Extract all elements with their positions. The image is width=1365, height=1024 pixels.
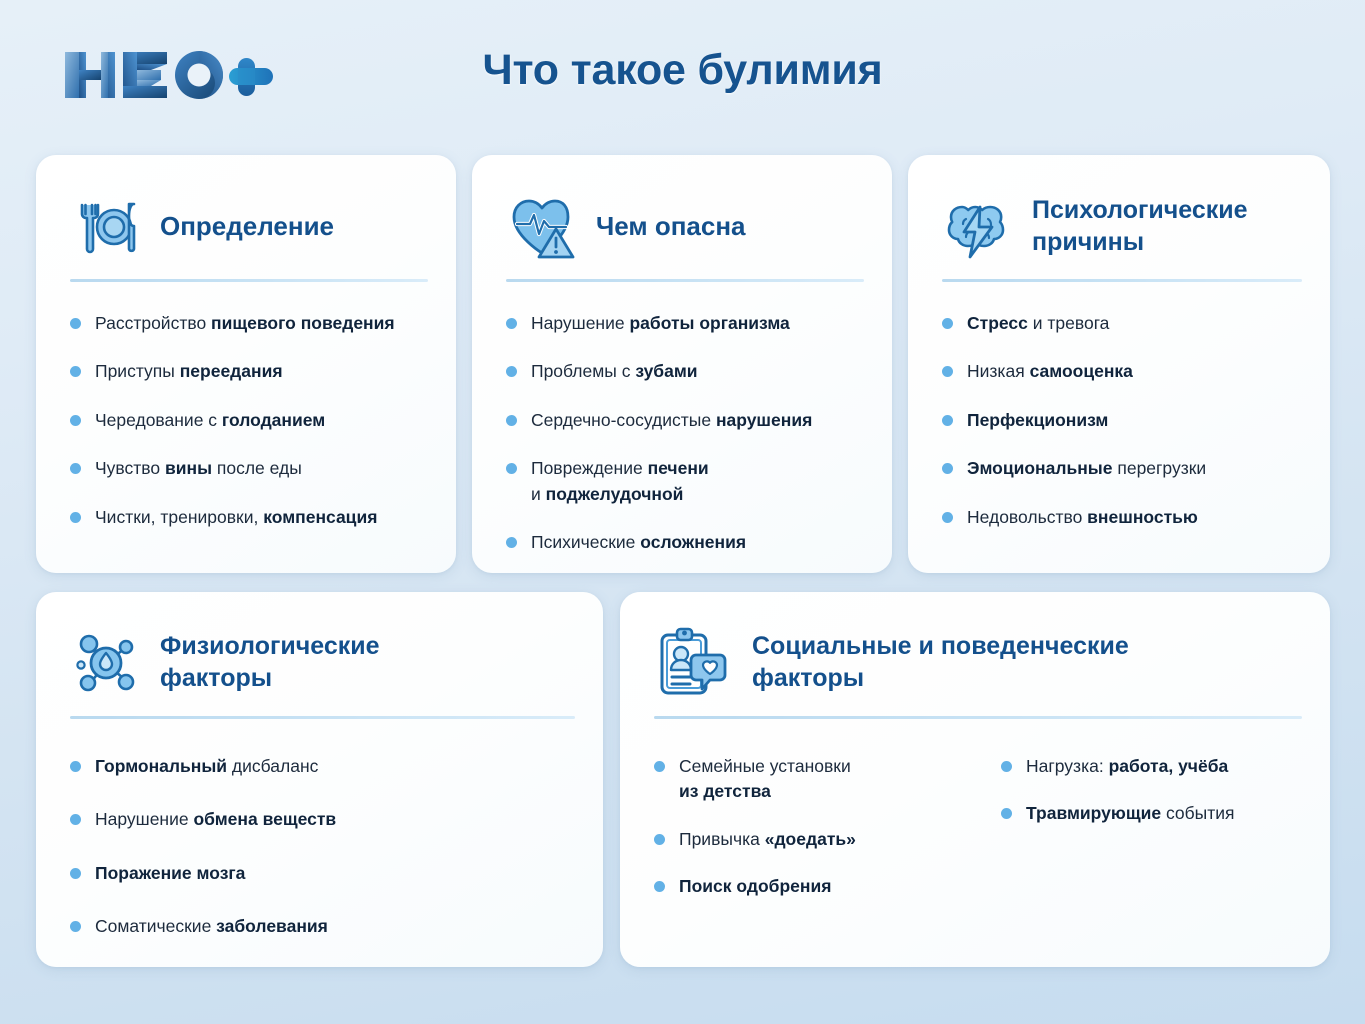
list-item: Стресс и тревога bbox=[942, 311, 1308, 336]
bullet-list: Нарушение работы организма Проблемы с зу… bbox=[506, 311, 870, 555]
list-item-text: Поражение мозга bbox=[95, 861, 245, 886]
bullet-dot bbox=[942, 463, 953, 474]
list-item-text: Недовольство внешностью bbox=[967, 505, 1198, 530]
bullet-list-right: Нагрузка: работа, учёба Травмирующие соб… bbox=[983, 754, 1306, 900]
card-definition: Определение Расстройство пищевого поведе… bbox=[36, 155, 456, 573]
list-item: Недовольство внешностью bbox=[942, 505, 1308, 530]
list-item-text: Привычка «доедать» bbox=[679, 827, 856, 852]
list-item-text: Нарушение обмена веществ bbox=[95, 807, 336, 832]
bullet-dot bbox=[1001, 761, 1012, 772]
list-item: Расстройство пищевого поведения bbox=[70, 311, 434, 336]
list-item: Перфекционизм bbox=[942, 408, 1308, 433]
bullet-list-left: Семейные установкииз детства Привычка «д… bbox=[654, 754, 959, 900]
bullet-dot bbox=[942, 318, 953, 329]
bullet-dot bbox=[506, 318, 517, 329]
list-item-text: Чувство вины после еды bbox=[95, 456, 302, 481]
card-dangers: Чем опасна Нарушение работы организма Пр… bbox=[472, 155, 892, 573]
list-item: Поиск одобрения bbox=[654, 874, 959, 899]
bullet-dot bbox=[942, 415, 953, 426]
brain-lightning-icon bbox=[942, 191, 1014, 263]
bullet-dot bbox=[70, 463, 81, 474]
list-item-text: Стресс и тревога bbox=[967, 311, 1109, 336]
list-item-text: Сердечно-сосудистые нарушения bbox=[531, 408, 812, 433]
card-divider bbox=[506, 279, 864, 282]
list-item-text: Семейные установкииз детства bbox=[679, 754, 851, 805]
card-social-behavioral-factors: Социальные и поведенческие факторы Семей… bbox=[620, 592, 1330, 967]
clipboard-person-heart-icon bbox=[654, 623, 734, 703]
list-item: Гормональный дисбаланс bbox=[70, 754, 581, 779]
page-header: Что такое булимия bbox=[0, 0, 1365, 140]
bullet-dot bbox=[654, 881, 665, 892]
list-item: Сердечно-сосудистые нарушения bbox=[506, 408, 870, 433]
card-header: Определение bbox=[36, 155, 456, 265]
bullet-dot bbox=[506, 366, 517, 377]
list-item-text: Соматические заболевания bbox=[95, 914, 328, 939]
list-item-text: Приступы переедания bbox=[95, 359, 283, 384]
bullet-dot bbox=[942, 366, 953, 377]
card-title: Определение bbox=[160, 210, 334, 243]
list-item-text: Чистки, тренировки, компенсация bbox=[95, 505, 377, 530]
list-item-text: Чередование с голоданием bbox=[95, 408, 325, 433]
card-psychological-causes: Психологические причины Стресс и тревога… bbox=[908, 155, 1330, 573]
bullet-dot bbox=[942, 512, 953, 523]
plate-fork-knife-icon bbox=[70, 191, 142, 263]
list-item-text: Проблемы с зубами bbox=[531, 359, 698, 384]
list-item-text: Эмоциональные перегрузки bbox=[967, 456, 1206, 481]
list-item: Повреждение печении поджелудочной bbox=[506, 456, 870, 507]
bullet-dot bbox=[70, 318, 81, 329]
card-title: Чем опасна bbox=[596, 210, 746, 243]
bullet-dot bbox=[70, 512, 81, 523]
bullet-dot bbox=[70, 761, 81, 772]
bullet-list: Стресс и тревога Низкая самооценка Перфе… bbox=[942, 311, 1308, 530]
card-divider bbox=[942, 279, 1302, 282]
list-item-text: Нагрузка: работа, учёба bbox=[1026, 754, 1228, 779]
page-title: Что такое булимия bbox=[0, 46, 1365, 95]
list-item-text: Низкая самооценка bbox=[967, 359, 1133, 384]
list-item-text: Расстройство пищевого поведения bbox=[95, 311, 395, 336]
list-item-text: Повреждение печении поджелудочной bbox=[531, 456, 709, 507]
list-item: Чувство вины после еды bbox=[70, 456, 434, 481]
bullet-dot bbox=[70, 921, 81, 932]
list-item: Поражение мозга bbox=[70, 861, 581, 886]
bullet-dot bbox=[506, 415, 517, 426]
bullet-dot bbox=[654, 761, 665, 772]
card-divider bbox=[70, 716, 575, 719]
molecule-hormone-icon bbox=[70, 627, 142, 699]
card-title: Психологические причины bbox=[1032, 195, 1282, 259]
list-item-text: Поиск одобрения bbox=[679, 874, 831, 899]
list-item: Семейные установкииз детства bbox=[654, 754, 959, 805]
card-title: Социальные и поведенческие факторы bbox=[752, 631, 1172, 695]
list-item: Психические осложнения bbox=[506, 530, 870, 555]
bullet-list: Расстройство пищевого поведения Приступы… bbox=[70, 311, 434, 530]
list-item: Эмоциональные перегрузки bbox=[942, 456, 1308, 481]
list-item-text: Нарушение работы организма bbox=[531, 311, 790, 336]
card-physiological-factors: Физиологические факторы Гормональный дис… bbox=[36, 592, 603, 967]
list-item: Чередование с голоданием bbox=[70, 408, 434, 433]
list-item-text: Травмирующие события bbox=[1026, 801, 1235, 826]
list-item-text: Перфекционизм bbox=[967, 408, 1108, 433]
card-title: Физиологические факторы bbox=[160, 631, 430, 695]
bullet-dot bbox=[1001, 808, 1012, 819]
list-item: Нагрузка: работа, учёба bbox=[1001, 754, 1306, 779]
list-item: Соматические заболевания bbox=[70, 914, 581, 939]
card-header: Социальные и поведенческие факторы bbox=[620, 592, 1330, 702]
bullet-dot bbox=[70, 814, 81, 825]
list-item: Травмирующие события bbox=[1001, 801, 1306, 826]
bullet-dot bbox=[70, 366, 81, 377]
bullet-list: Гормональный дисбаланс Нарушение обмена … bbox=[70, 754, 581, 940]
bullet-columns: Семейные установкииз детства Привычка «д… bbox=[654, 754, 1306, 900]
list-item: Чистки, тренировки, компенсация bbox=[70, 505, 434, 530]
list-item-text: Гормональный дисбаланс bbox=[95, 754, 318, 779]
list-item: Низкая самооценка bbox=[942, 359, 1308, 384]
bullet-dot bbox=[506, 463, 517, 474]
card-header: Психологические причины bbox=[908, 155, 1330, 265]
list-item-text: Психические осложнения bbox=[531, 530, 746, 555]
list-item: Нарушение обмена веществ bbox=[70, 807, 581, 832]
list-item: Нарушение работы организма bbox=[506, 311, 870, 336]
card-divider bbox=[70, 279, 428, 282]
list-item: Привычка «доедать» bbox=[654, 827, 959, 852]
list-item: Проблемы с зубами bbox=[506, 359, 870, 384]
bullet-dot bbox=[506, 537, 517, 548]
bullet-dot bbox=[70, 868, 81, 879]
heart-pulse-warning-icon bbox=[506, 191, 578, 263]
list-item: Приступы переедания bbox=[70, 359, 434, 384]
bullet-dot bbox=[654, 834, 665, 845]
card-header: Чем опасна bbox=[472, 155, 892, 265]
card-divider bbox=[654, 716, 1302, 719]
card-header: Физиологические факторы bbox=[36, 592, 603, 702]
bullet-dot bbox=[70, 415, 81, 426]
